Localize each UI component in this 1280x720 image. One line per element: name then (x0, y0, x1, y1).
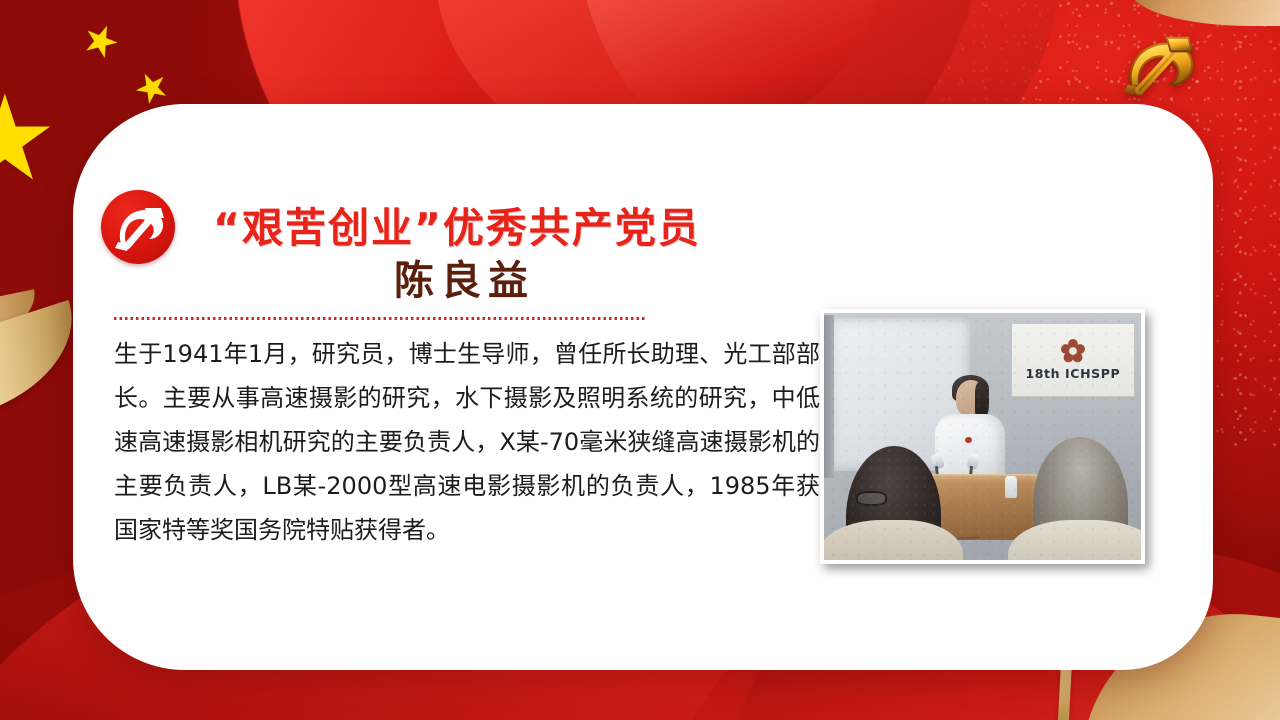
plum-blossom-logo-icon (1060, 338, 1086, 364)
biography-text: 生于1941年1月，研究员，博士生导师，曾任所长助理、光工部部长。主要从事高速摄… (114, 332, 820, 552)
slide-background: ★ ★ ★ ★ ★ (0, 0, 1280, 720)
photo-conference-banner: 18th ICHSPP (1011, 323, 1135, 397)
person-name: 陈良益 (394, 248, 535, 306)
photo-speaker-badge (965, 437, 972, 443)
photo-audience-glasses (856, 491, 888, 506)
conference-photo: 18th ICHSPP (820, 309, 1145, 564)
page-title: “艰苦创业”优秀共产党员 (213, 194, 701, 254)
photo-water-bottle (1005, 476, 1018, 498)
hammer-and-sickle-icon (101, 190, 175, 264)
photo-screen-frame (824, 315, 834, 478)
content-card: “艰苦创业”优秀共产党员 陈良益 生于1941年1月，研究员，博士生导师，曾任所… (73, 104, 1213, 670)
dotted-divider (114, 317, 647, 320)
photo-image: 18th ICHSPP (824, 313, 1141, 560)
gold-hammer-and-sickle-icon (1110, 28, 1208, 106)
photo-banner-text: 18th ICHSPP (1025, 366, 1120, 381)
five-star-icon-large: ★ (0, 80, 58, 198)
